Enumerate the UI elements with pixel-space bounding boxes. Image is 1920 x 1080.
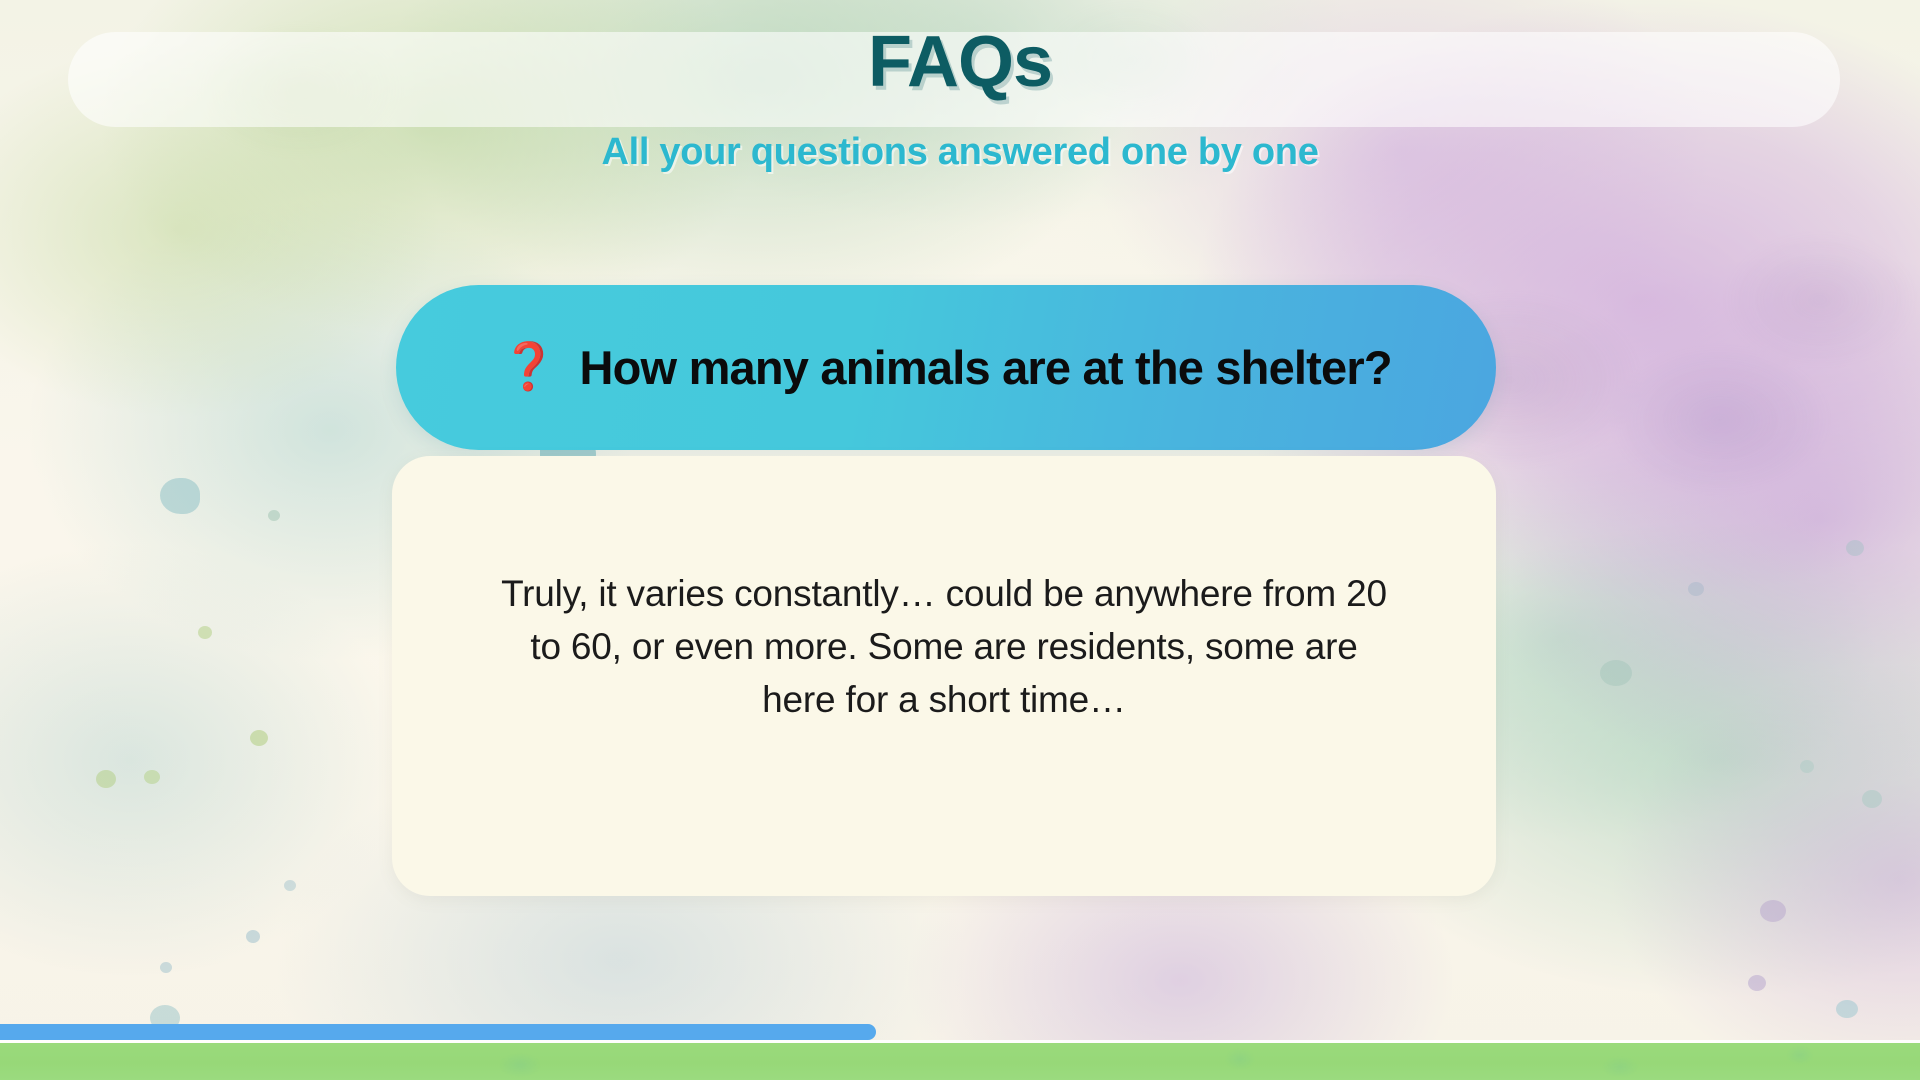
paint-speck	[1862, 790, 1882, 808]
paint-speck	[160, 478, 200, 514]
faq-slide: FAQs All your questions answered one by …	[0, 0, 1920, 1080]
faq-question-text: How many animals are at the shelter?	[580, 342, 1392, 394]
paint-speck	[250, 730, 268, 746]
faq-question-pill[interactable]: ❓ How many animals are at the shelter?	[396, 285, 1496, 450]
paint-speck	[1748, 975, 1766, 991]
paint-speck	[144, 770, 160, 784]
paint-speck	[246, 930, 260, 943]
footer-strip	[0, 1043, 1920, 1080]
faq-question-row: ❓ How many animals are at the shelter?	[442, 342, 1450, 394]
page-subtitle: All your questions answered one by one	[0, 133, 1920, 171]
faq-answer-text: Truly, it varies constantly… could be an…	[494, 568, 1394, 727]
paint-speck	[1760, 900, 1786, 922]
page-title: FAQs	[0, 26, 1920, 98]
paint-speck	[1600, 660, 1632, 686]
paint-speck	[1846, 540, 1864, 556]
paint-speck	[198, 626, 212, 639]
progress-track[interactable]	[0, 1024, 1920, 1040]
paint-speck	[160, 962, 172, 973]
paint-speck	[1800, 760, 1814, 773]
paint-speck	[96, 770, 116, 788]
paint-speck	[284, 880, 296, 891]
paint-speck	[268, 510, 280, 521]
paint-speck	[1836, 1000, 1858, 1018]
faq-answer-card: Truly, it varies constantly… could be an…	[392, 456, 1496, 896]
paint-speck	[1688, 582, 1704, 596]
progress-fill	[0, 1024, 876, 1040]
question-mark-icon: ❓	[500, 343, 557, 389]
